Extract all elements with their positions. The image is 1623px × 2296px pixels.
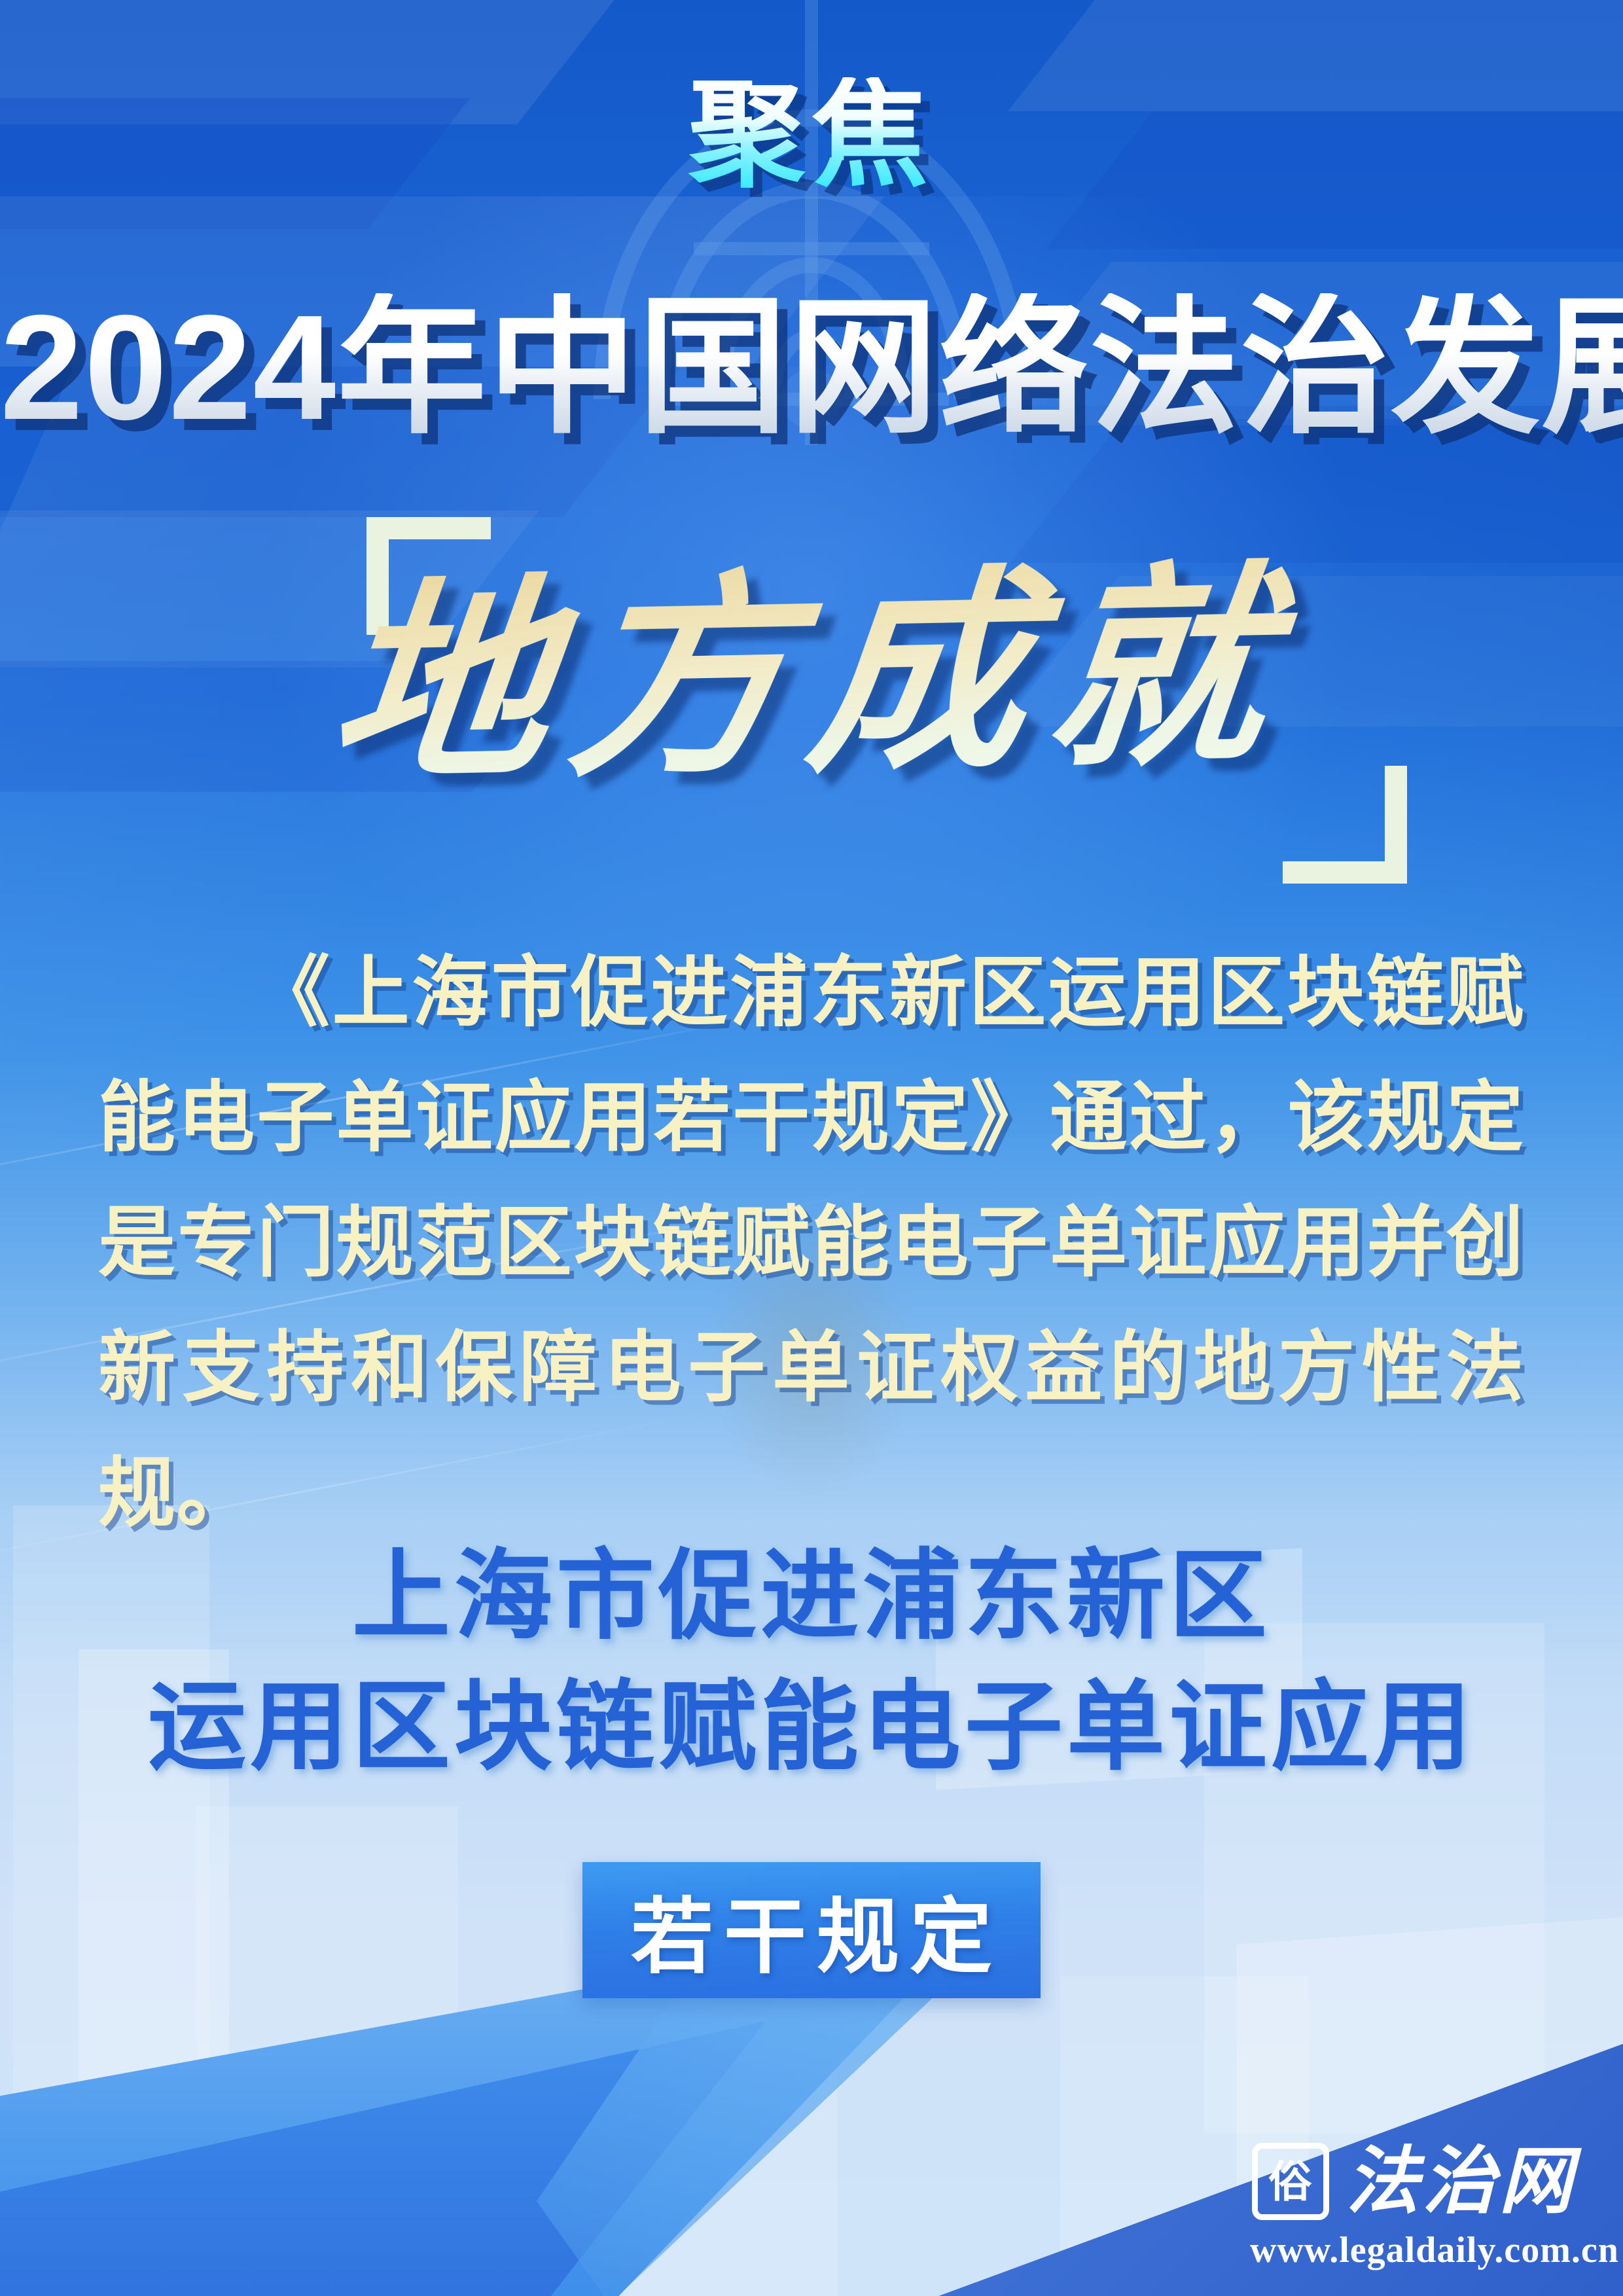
subheading-line-2: 运用区块链赋能电子单证应用 <box>0 1666 1623 1787</box>
page-title: 2024年中国网络法治发展 <box>0 293 1623 442</box>
site-url: www.legaldaily.com.cn <box>1250 2229 1577 2271</box>
brush-title-group: 地方成就 <box>0 517 1623 884</box>
poster-root: 聚焦 2024年中国网络法治发展 地方成就 《上海市促进浦东新区运用区块链赋能电… <box>0 0 1623 2296</box>
regulation-badge: 若干规定 <box>582 1862 1041 1998</box>
subheading-line-1: 上海市促进浦东新区 <box>0 1535 1623 1657</box>
brand-name: 法治网 <box>1346 2145 1576 2218</box>
brush-calligraphy-title: 地方成就 <box>0 528 1623 822</box>
seal-stamp-icon: 俗 <box>1252 2143 1329 2220</box>
eyebrow-label: 聚焦 <box>0 77 1623 194</box>
logo-row: 俗 法治网 <box>1250 2143 1577 2220</box>
site-logo[interactable]: 俗 法治网 www.legaldaily.com.cn <box>1250 2143 1577 2271</box>
body-paragraph: 《上海市促进浦东新区运用区块链赋能电子单证应用若干规定》通过，该规定是专门规范区… <box>98 929 1525 1555</box>
poster-content: 聚焦 2024年中国网络法治发展 地方成就 《上海市促进浦东新区运用区块链赋能电… <box>0 0 1623 2296</box>
regulation-badge-label: 若干规定 <box>620 1871 1003 1990</box>
